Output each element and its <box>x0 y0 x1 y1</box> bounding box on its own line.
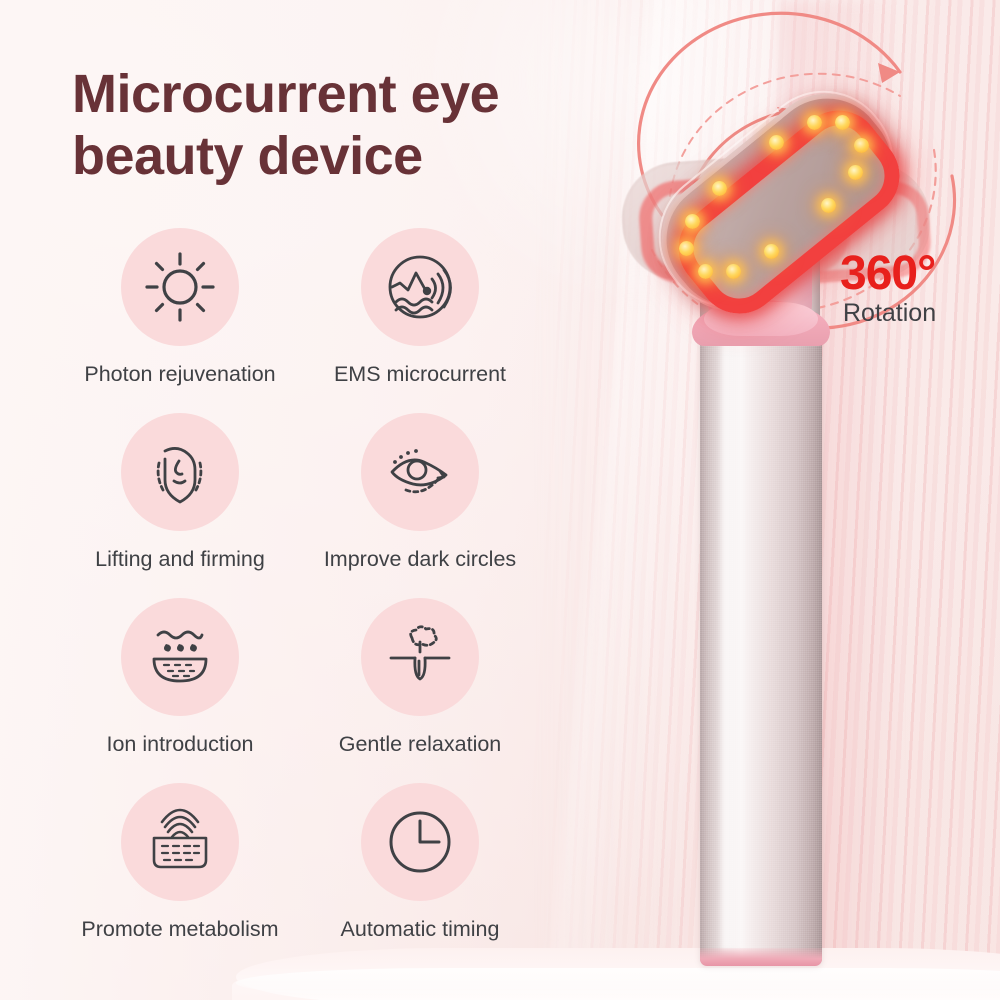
led-dot <box>821 198 836 213</box>
page-title: Microcurrent eye beauty device <box>72 64 632 187</box>
feature-list: Photon rejuvenation EMS microcurr <box>60 228 600 968</box>
feature-label: Automatic timing <box>341 917 500 942</box>
pore-follicle-icon <box>361 598 479 716</box>
page-title-line-1: Microcurrent eye <box>72 64 632 126</box>
led-dot <box>854 138 869 153</box>
feature-item-ion-introduction[interactable]: Ion introduction <box>60 598 300 783</box>
led-dot <box>712 181 727 196</box>
feature-item-automatic-timing[interactable]: Automatic timing <box>300 783 540 968</box>
device-handle-texture <box>700 315 822 965</box>
feature-label: EMS microcurrent <box>334 362 506 387</box>
feature-row-2: Lifting and firming Improve dark <box>60 413 600 598</box>
eye-icon <box>361 413 479 531</box>
sun-icon <box>121 228 239 346</box>
feature-label: Photon rejuvenation <box>84 362 275 387</box>
led-dot <box>726 264 741 279</box>
feature-item-gentle-relaxation[interactable]: Gentle relaxation <box>300 598 540 783</box>
rotation-callout: 360° Rotation <box>840 250 936 328</box>
rotation-degrees: 360° <box>840 250 936 298</box>
led-dot <box>835 115 850 130</box>
feature-row-4: Promote metabolism Automatic timing <box>60 783 600 968</box>
led-dot <box>848 165 863 180</box>
device-handle-base <box>700 948 822 966</box>
ion-droplet-icon <box>121 598 239 716</box>
feature-label: Lifting and firming <box>95 547 265 572</box>
feature-label: Improve dark circles <box>324 547 516 572</box>
product-banner: Microcurrent eye beauty device <box>0 0 1000 1000</box>
rotation-caption: Rotation <box>843 300 936 328</box>
feature-label: Promote metabolism <box>81 917 278 942</box>
page-title-line-2: beauty device <box>72 126 632 188</box>
led-dot <box>769 135 784 150</box>
skin-wave-icon <box>121 783 239 901</box>
feature-item-promote-metabolism[interactable]: Promote metabolism <box>60 783 300 968</box>
face-lifting-icon <box>121 413 239 531</box>
feature-label: Gentle relaxation <box>339 732 502 757</box>
feature-label: Ion introduction <box>106 732 253 757</box>
product-device: 360° Rotation <box>600 0 1000 1000</box>
feature-item-improve-dark-circles[interactable]: Improve dark circles <box>300 413 540 598</box>
feature-row-1: Photon rejuvenation EMS microcurr <box>60 228 600 413</box>
feature-item-ems-microcurrent[interactable]: EMS microcurrent <box>300 228 540 413</box>
feature-item-lifting-and-firming[interactable]: Lifting and firming <box>60 413 300 598</box>
feature-item-photon-rejuvenation[interactable]: Photon rejuvenation <box>60 228 300 413</box>
feature-row-3: Ion introduction Gentle relaxation <box>60 598 600 783</box>
clock-icon <box>361 783 479 901</box>
ems-wave-icon <box>361 228 479 346</box>
device-handle-highlight <box>722 330 748 950</box>
